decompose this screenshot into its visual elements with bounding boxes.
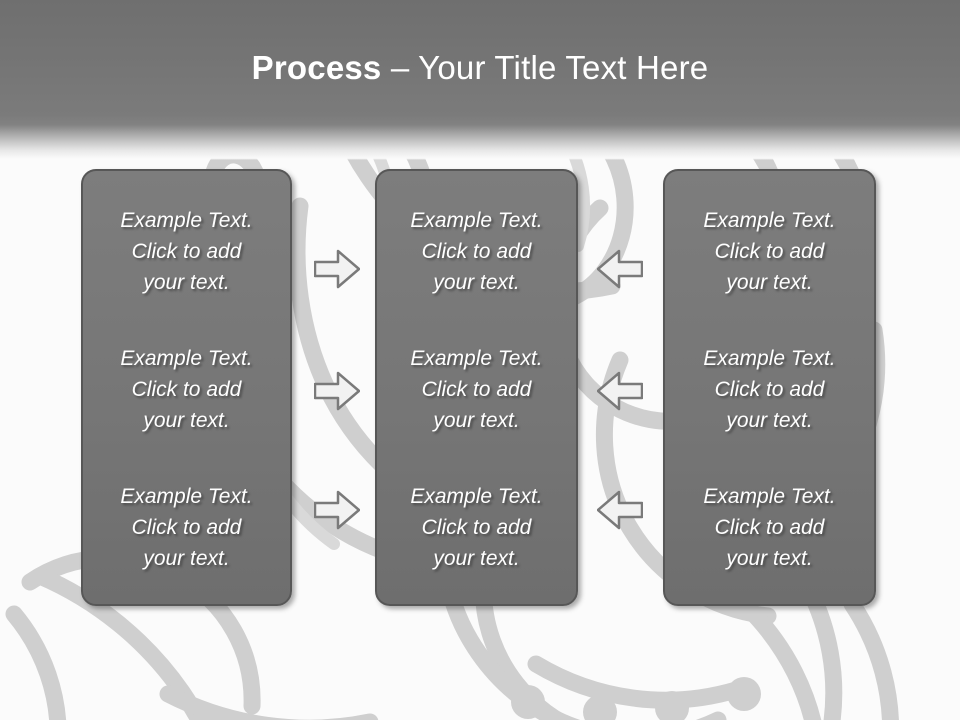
- text-placeholder[interactable]: Example Text. Click to add your text.: [93, 205, 280, 298]
- process-column-center[interactable]: Example Text. Click to add your text. Ex…: [375, 169, 578, 606]
- arrow-right-icon[interactable]: [314, 371, 360, 411]
- arrow-right-icon[interactable]: [314, 490, 360, 530]
- arrow-left-icon[interactable]: [597, 490, 643, 530]
- arrow-left-icon[interactable]: [597, 249, 643, 289]
- text-placeholder[interactable]: Example Text. Click to add your text.: [387, 205, 566, 298]
- page-title-emphasis: Process: [252, 49, 382, 86]
- process-column-right[interactable]: Example Text. Click to add your text. Ex…: [663, 169, 876, 606]
- text-placeholder[interactable]: Example Text. Click to add your text.: [675, 481, 864, 574]
- page-title-rest: – Your Title Text Here: [381, 49, 708, 86]
- text-placeholder[interactable]: Example Text. Click to add your text.: [93, 343, 280, 436]
- text-placeholder[interactable]: Example Text. Click to add your text.: [675, 205, 864, 298]
- text-placeholder[interactable]: Example Text. Click to add your text.: [675, 343, 864, 436]
- process-column-left[interactable]: Example Text. Click to add your text. Ex…: [81, 169, 292, 606]
- text-placeholder[interactable]: Example Text. Click to add your text.: [387, 343, 566, 436]
- text-placeholder[interactable]: Example Text. Click to add your text.: [387, 481, 566, 574]
- arrow-right-icon[interactable]: [314, 249, 360, 289]
- arrow-left-icon[interactable]: [597, 371, 643, 411]
- text-placeholder[interactable]: Example Text. Click to add your text.: [93, 481, 280, 574]
- page-title: Process – Your Title Text Here: [0, 47, 960, 89]
- presentation-slide: Process – Your Title Text Here Example T…: [0, 0, 960, 720]
